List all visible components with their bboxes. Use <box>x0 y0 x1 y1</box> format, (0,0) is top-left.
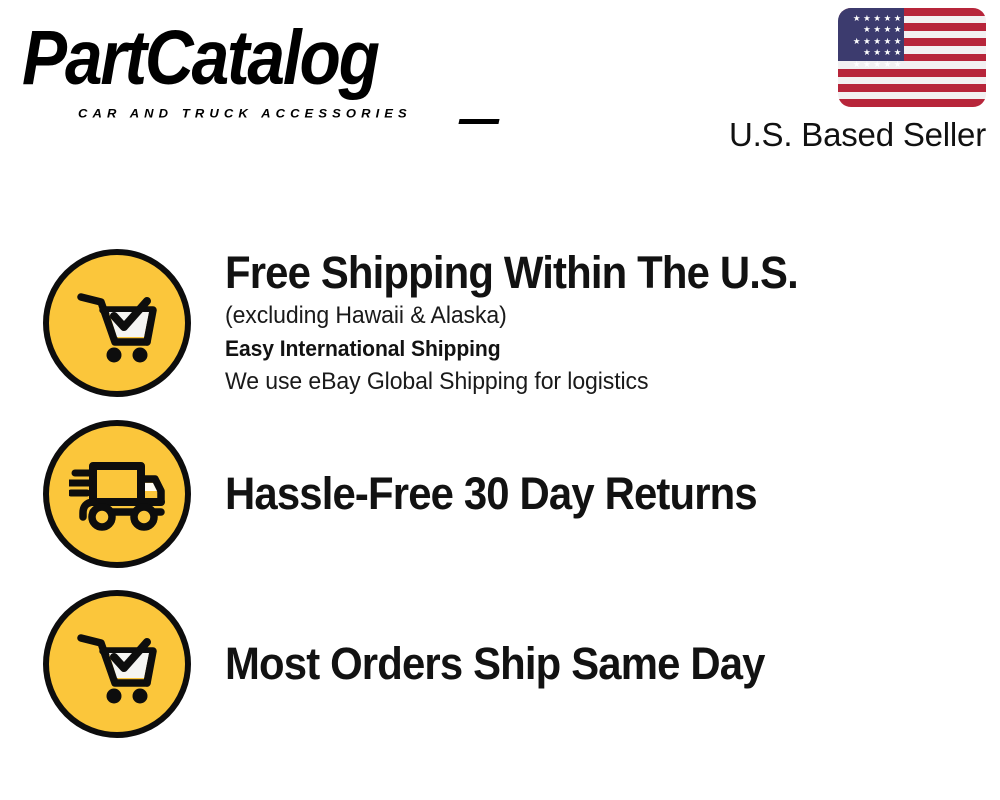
benefit-title: Most Orders Ship Same Day <box>225 639 927 689</box>
brand-wordmark: PartCatalog <box>22 18 483 99</box>
benefit-secondary-title: Easy International Shipping <box>225 332 950 366</box>
benefit-secondary-subtitle: We use eBay Global Shipping for logistic… <box>225 366 950 398</box>
benefit-text-group: Most Orders Ship Same Day <box>225 639 1000 689</box>
us-based-seller-label: U.S. Based Seller <box>706 116 986 154</box>
delivery-truck-icon <box>43 420 191 568</box>
brand-tagline: CAR AND TRUCK ACCESSORIES <box>78 106 412 120</box>
benefit-row: Most Orders Ship Same Day <box>0 588 1000 740</box>
benefit-text-group: Hassle-Free 30 Day Returns <box>225 469 1000 519</box>
benefit-subtitle: (excluding Hawaii & Alaska) <box>225 300 950 332</box>
page-header: PartCatalog CAR AND TRUCK ACCESSORIES ★★… <box>0 0 1000 175</box>
benefit-title: Hassle-Free 30 Day Returns <box>225 469 927 519</box>
us-based-seller-block: ★★★★★ ★★★★ ★★★★★ ★★★★ ★★★★★ U.S. Based S… <box>706 8 986 154</box>
benefit-text-group: Free Shipping Within The U.S. (excluding… <box>225 248 1000 398</box>
flag-stars: ★★★★★ ★★★★ ★★★★★ ★★★★ ★★★★★ <box>838 8 904 61</box>
benefit-title: Free Shipping Within The U.S. <box>225 248 927 298</box>
benefit-row: Hassle-Free 30 Day Returns <box>0 418 1000 570</box>
benefit-row: Free Shipping Within The U.S. (excluding… <box>0 245 1000 401</box>
shopping-cart-check-icon <box>43 249 191 397</box>
brand-logo[interactable]: PartCatalog CAR AND TRUCK ACCESSORIES <box>22 18 492 113</box>
shopping-cart-check-icon <box>43 590 191 738</box>
logo-swash-decoration <box>458 119 499 124</box>
us-flag-icon: ★★★★★ ★★★★ ★★★★★ ★★★★ ★★★★★ <box>838 8 986 107</box>
